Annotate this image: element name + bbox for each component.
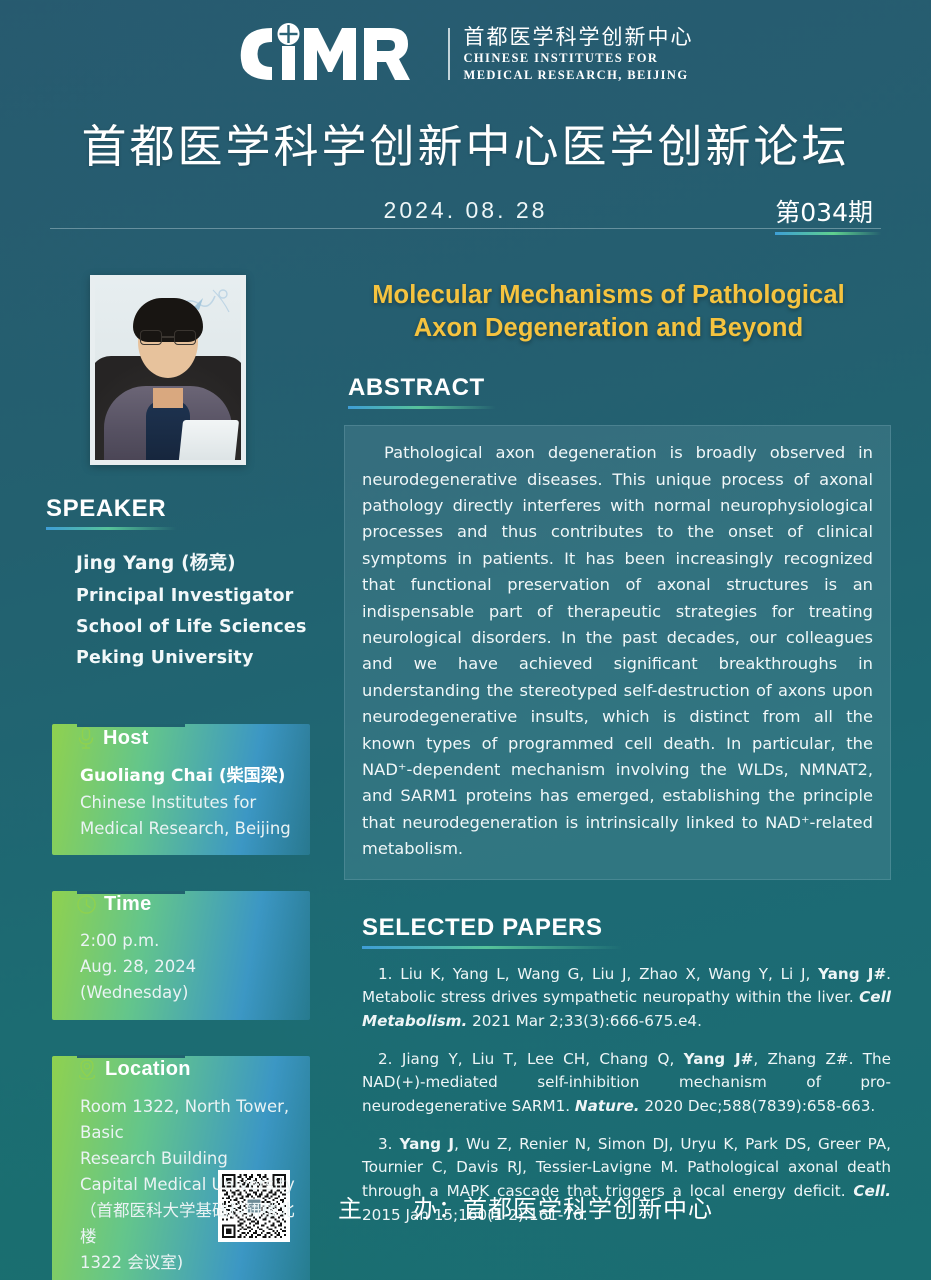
location-title-row: Location [76, 1058, 191, 1081]
time-box: Time 2:00 p.m. Aug. 28, 2024 (Wednesday) [52, 881, 310, 1019]
speaker-photo-frame [90, 275, 246, 465]
paper-author-highlight: Yang J# [684, 1050, 754, 1068]
speaker-photo [95, 280, 241, 460]
host-name: Guoliang Chai (柴国梁) [80, 763, 300, 790]
time-title-row: Time [76, 893, 152, 916]
speaker-department: School of Life Sciences [76, 612, 330, 643]
paper-number: 3. [378, 1135, 393, 1153]
host-box: Host Guoliang Chai (柴国梁) Chinese Institu… [52, 714, 310, 855]
time-date: Aug. 28, 2024 (Wednesday) [80, 954, 300, 1006]
speaker-details: Jing Yang (杨竞) Principal Investigator Sc… [76, 548, 330, 674]
speaker-name: Jing Yang (杨竞) [76, 548, 330, 581]
host-heading: Host [103, 727, 149, 750]
map-pin-icon [76, 1058, 98, 1081]
logo-english-line1: CHINESE INSTITUTES FOR [464, 50, 694, 66]
organizer-row: 主 办： 首都医学科学创新中心 [338, 1189, 713, 1224]
location-line2: Research Building [80, 1146, 300, 1172]
paper-author-highlight: Yang J [399, 1135, 454, 1153]
logo-english-line2: MEDICAL RESEARCH, BEIJING [464, 67, 694, 83]
paper-journal: Nature. [575, 1097, 640, 1115]
speaker-position: Principal Investigator [76, 581, 330, 612]
paper-authors: Liu K, Yang L, Wang G, Liu J, Zhao X, Wa… [393, 965, 819, 983]
location-box: Location Room 1322, North Tower, Basic R… [52, 1046, 310, 1280]
papers-heading: SELECTED PAPERS [362, 914, 603, 949]
paper-authors: Jiang Y, Liu T, Lee CH, Chang Q, [393, 1050, 684, 1068]
talk-title: Molecular Mechanisms of Pathological Axo… [344, 279, 873, 344]
speaker-heading: SPEAKER [46, 495, 166, 530]
organizer-label: 主 办： [338, 1189, 463, 1224]
time-hour: 2:00 p.m. [80, 928, 300, 954]
abstract-text: Pathological axon degeneration is broadl… [362, 440, 873, 862]
abstract-box: Pathological axon degeneration is broadl… [344, 425, 891, 879]
logo-chinese-name: 首都医学科学创新中心 [464, 25, 694, 49]
host-title-row: Host [76, 726, 149, 750]
microphone-icon [76, 726, 96, 750]
abstract-heading: ABSTRACT [348, 374, 485, 409]
poster-body: SPEAKER Jing Yang (杨竞) Principal Investi… [0, 239, 931, 1280]
right-column: Molecular Mechanisms of Pathological Axo… [330, 257, 931, 1280]
location-details: Room 1322, North Tower, Basic Research B… [80, 1094, 300, 1276]
time-details: 2:00 p.m. Aug. 28, 2024 (Wednesday) [80, 928, 300, 1006]
paper-citation: 2021 Mar 2;33(3):666-675.e4. [467, 1012, 702, 1030]
location-line5: 1322 会议室) [80, 1250, 300, 1276]
logo-text-block: 首都医学科学创新中心 CHINESE INSTITUTES FOR MEDICA… [464, 25, 694, 84]
location-line1: Room 1322, North Tower, Basic [80, 1094, 300, 1146]
paper-item: 1. Liu K, Yang L, Wang G, Liu J, Zhao X,… [362, 963, 891, 1034]
paper-author-highlight: Yang J# [818, 965, 886, 983]
host-affiliation-line2: Medical Research, Beijing [80, 816, 300, 842]
host-details: Guoliang Chai (柴国梁) Chinese Institutes f… [80, 763, 300, 842]
logo-divider [448, 28, 450, 80]
header-divider-rule [50, 228, 881, 229]
poster-root: 首都医学科学创新中心 CHINESE INSTITUTES FOR MEDICA… [0, 0, 931, 1280]
left-column: SPEAKER Jing Yang (杨竞) Principal Investi… [0, 257, 330, 1280]
logo-wordmark [238, 22, 434, 86]
cimr-logo-icon [238, 22, 434, 86]
location-heading: Location [105, 1058, 191, 1081]
paper-number: 2. [378, 1050, 393, 1068]
location-line3: Capital Medical University [80, 1172, 300, 1198]
event-date: 2024. 08. 28 [384, 197, 548, 224]
clock-icon [76, 894, 97, 915]
location-line4: （首都医科大学基础科研楼北楼 [80, 1198, 300, 1250]
host-affiliation-line1: Chinese Institutes for [80, 790, 300, 816]
cimr-logo: 首都医学科学创新中心 CHINESE INSTITUTES FOR MEDICA… [0, 22, 931, 86]
organizer-name: 首都医学科学创新中心 [463, 1189, 713, 1224]
paper-number: 1. [378, 965, 393, 983]
time-heading: Time [104, 893, 152, 916]
paper-citation: 2020 Dec;588(7839):658-663. [640, 1097, 876, 1115]
header-meta-row: 2024. 08. 28 第034期 [0, 197, 931, 239]
forum-title: 首都医学科学创新中心医学创新论坛 [0, 110, 931, 175]
poster-header: 首都医学科学创新中心 CHINESE INSTITUTES FOR MEDICA… [0, 0, 931, 239]
speaker-institution: Peking University [76, 643, 330, 674]
paper-item: 2. Jiang Y, Liu T, Lee CH, Chang Q, Yang… [362, 1048, 891, 1119]
